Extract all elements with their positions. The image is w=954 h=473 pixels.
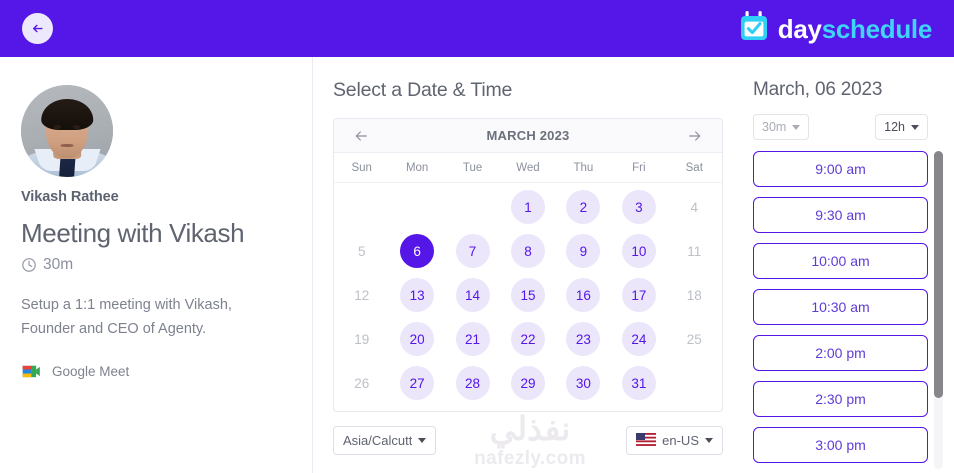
caret-down-icon	[705, 438, 713, 443]
us-flag-icon	[636, 433, 656, 449]
calendar-day-20[interactable]: 20	[400, 322, 434, 356]
time-slot-2-00-pm[interactable]: 2:00 pm	[753, 335, 928, 371]
calendar-weekday-row: SunMonTueWedThuFriSat	[334, 153, 722, 183]
calendar-cell: 26	[334, 361, 389, 405]
calendar-day-4: 4	[677, 190, 711, 224]
calendar-day-23[interactable]: 23	[566, 322, 600, 356]
calendar-day-empty	[345, 190, 379, 224]
event-location-label: Google Meet	[52, 364, 129, 379]
language-select[interactable]: en-US	[626, 426, 723, 455]
calendar-cell: 29	[500, 361, 555, 405]
calendar-cell: 10	[611, 229, 666, 273]
event-duration-label: 30m	[43, 256, 73, 274]
calendar-day-7[interactable]: 7	[456, 234, 490, 268]
time-slot-10-30-am[interactable]: 10:30 am	[753, 289, 928, 325]
calendar-day-empty	[456, 190, 490, 224]
calendar-cell: 18	[667, 273, 722, 317]
calendar-cell: 19	[334, 317, 389, 361]
calendar-day-21[interactable]: 21	[456, 322, 490, 356]
calendar-cell: 31	[611, 361, 666, 405]
calendar-day-11: 11	[677, 234, 711, 268]
calendar-day-9[interactable]: 9	[566, 234, 600, 268]
time-slot-2-30-pm[interactable]: 2:30 pm	[753, 381, 928, 417]
time-format-value: 12h	[884, 120, 905, 134]
calendar-weekday-thu: Thu	[556, 162, 611, 174]
time-slot-10-00-am[interactable]: 10:00 am	[753, 243, 928, 279]
calendar-cell	[667, 361, 722, 405]
calendar-cell: 22	[500, 317, 555, 361]
calendar-day-5: 5	[345, 234, 379, 268]
duration-select[interactable]: 30m	[753, 114, 809, 140]
calendar-day-29[interactable]: 29	[511, 366, 545, 400]
calendar-cell: 16	[556, 273, 611, 317]
page-body: Vikash Rathee Meeting with Vikash 30m Se…	[0, 57, 954, 473]
avatar	[21, 85, 113, 177]
event-details-panel: Vikash Rathee Meeting with Vikash 30m Se…	[0, 57, 313, 473]
calendar-cell: 1	[500, 185, 555, 229]
time-slot-9-30-am[interactable]: 9:30 am	[753, 197, 928, 233]
calendar-weekday-sun: Sun	[334, 162, 389, 174]
event-title: Meeting with Vikash	[21, 219, 290, 248]
back-button[interactable]	[22, 13, 53, 44]
calendar-cell: 21	[445, 317, 500, 361]
calendar-weekday-sat: Sat	[667, 162, 722, 174]
event-location: Google Meet	[21, 363, 290, 380]
calendar-day-30[interactable]: 30	[566, 366, 600, 400]
time-format-select[interactable]: 12h	[875, 114, 928, 140]
calendar-day-15[interactable]: 15	[511, 278, 545, 312]
brand-schedule-text: schedule	[822, 14, 932, 44]
arrow-left-icon	[30, 21, 45, 36]
calendar-cell: 5	[334, 229, 389, 273]
calendar-day-18: 18	[677, 278, 711, 312]
timezone-value: Asia/Calcutta	[343, 433, 412, 448]
calendar-day-3[interactable]: 3	[622, 190, 656, 224]
calendar-cell: 3	[611, 185, 666, 229]
selected-date-label: March, 06 2023	[753, 79, 944, 101]
calendar-cell	[334, 185, 389, 229]
calendar-day-14[interactable]: 14	[456, 278, 490, 312]
calendar-cell: 8	[500, 229, 555, 273]
calendar-cell: 2	[556, 185, 611, 229]
calendar-cell: 27	[389, 361, 444, 405]
arrow-left-icon	[353, 128, 369, 144]
caret-down-icon	[792, 125, 800, 130]
calendar-cell: 11	[667, 229, 722, 273]
calendar-cell: 24	[611, 317, 666, 361]
calendar-day-25: 25	[677, 322, 711, 356]
caret-down-icon	[418, 438, 426, 443]
calendar-day-24[interactable]: 24	[622, 322, 656, 356]
calendar-day-6-selected[interactable]: 6	[400, 234, 434, 268]
calendar-weekday-tue: Tue	[445, 162, 500, 174]
host-name: Vikash Rathee	[21, 189, 290, 205]
calendar-day-10[interactable]: 10	[622, 234, 656, 268]
calendar-header: MARCH 2023	[334, 119, 722, 153]
calendar-footer-controls: Asia/Calcutta en-US	[333, 426, 723, 455]
brand-day-text: day	[778, 14, 822, 44]
calendar-check-icon	[739, 10, 769, 47]
calendar-day-2[interactable]: 2	[566, 190, 600, 224]
calendar-cell: 30	[556, 361, 611, 405]
app-header: dayschedule	[0, 0, 954, 57]
calendar-cell: 13	[389, 273, 444, 317]
calendar-cell: 4	[667, 185, 722, 229]
calendar-day-17[interactable]: 17	[622, 278, 656, 312]
calendar-day-grid: 1234567891011121314151617181920212223242…	[334, 183, 722, 411]
calendar-day-28[interactable]: 28	[456, 366, 490, 400]
arrow-right-icon	[687, 128, 703, 144]
calendar-weekday-fri: Fri	[611, 162, 666, 174]
slot-controls: 30m 12h	[753, 114, 944, 140]
calendar-cell: 28	[445, 361, 500, 405]
brand-logo-group: dayschedule	[739, 10, 932, 47]
time-slot-9-00-am[interactable]: 9:00 am	[753, 151, 928, 187]
calendar-day-8[interactable]: 8	[511, 234, 545, 268]
calendar-cell: 15	[500, 273, 555, 317]
date-time-panel: Select a Date & Time MARCH 2023	[313, 57, 741, 473]
language-value: en-US	[662, 433, 699, 448]
time-slots-panel: March, 06 2023 30m 12h 9:00 am9:30 am10:…	[741, 57, 954, 473]
calendar-month-label: MARCH 2023	[374, 128, 682, 143]
calendar-cell	[389, 185, 444, 229]
calendar-cell: 14	[445, 273, 500, 317]
calendar-day-31[interactable]: 31	[622, 366, 656, 400]
calendar-cell: 7	[445, 229, 500, 273]
calendar-cell: 17	[611, 273, 666, 317]
timezone-select[interactable]: Asia/Calcutta	[333, 426, 436, 455]
calendar-cell: 6	[389, 229, 444, 273]
calendar-day-22[interactable]: 22	[511, 322, 545, 356]
calendar-day-1[interactable]: 1	[511, 190, 545, 224]
calendar-weekday-wed: Wed	[500, 162, 555, 174]
calendar-cell: 25	[667, 317, 722, 361]
booking-page: dayschedule Vikash Rathee Meeting with V…	[0, 0, 954, 473]
calendar-next-month-button[interactable]	[682, 123, 708, 149]
time-slots-list: 9:00 am9:30 am10:00 am10:30 am2:00 pm2:3…	[753, 151, 944, 463]
calendar-day-12: 12	[345, 278, 379, 312]
clock-icon	[21, 257, 37, 273]
calendar-weekday-mon: Mon	[389, 162, 444, 174]
time-slots-scroll-area: 9:00 am9:30 am10:00 am10:30 am2:00 pm2:3…	[753, 151, 944, 469]
brand-text: dayschedule	[778, 16, 932, 42]
event-description: Setup a 1:1 meeting with Vikash, Founder…	[21, 294, 269, 341]
select-date-time-title: Select a Date & Time	[333, 79, 723, 102]
google-meet-icon	[21, 363, 41, 380]
duration-select-value: 30m	[762, 120, 786, 134]
calendar-prev-month-button[interactable]	[348, 123, 374, 149]
calendar-cell	[445, 185, 500, 229]
calendar-day-16[interactable]: 16	[566, 278, 600, 312]
calendar-day-26: 26	[345, 366, 379, 400]
slots-scrollbar-thumb[interactable]	[934, 151, 943, 398]
calendar: MARCH 2023 SunMonTueWedThuFriSat 1234567…	[333, 118, 723, 412]
calendar-cell: 23	[556, 317, 611, 361]
calendar-day-13[interactable]: 13	[400, 278, 434, 312]
calendar-cell: 12	[334, 273, 389, 317]
calendar-day-empty	[677, 366, 711, 400]
time-slot-3-00-pm[interactable]: 3:00 pm	[753, 427, 928, 463]
caret-down-icon	[911, 125, 919, 130]
calendar-day-27[interactable]: 27	[400, 366, 434, 400]
calendar-day-empty	[400, 190, 434, 224]
calendar-cell: 20	[389, 317, 444, 361]
calendar-day-19: 19	[345, 322, 379, 356]
event-duration: 30m	[21, 256, 290, 274]
calendar-cell: 9	[556, 229, 611, 273]
